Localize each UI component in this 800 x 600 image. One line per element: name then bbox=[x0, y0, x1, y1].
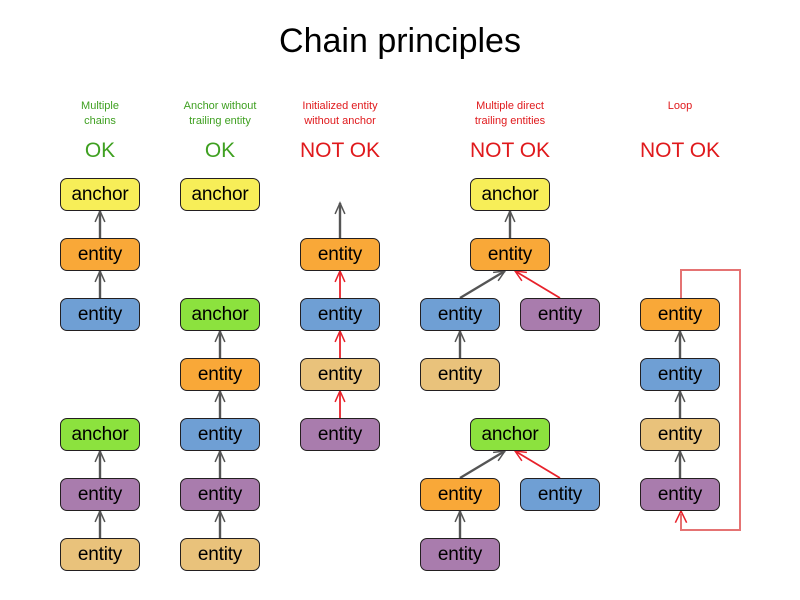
c4-entity-to-anchor-arrowhead bbox=[505, 211, 515, 222]
node-entity-c1-r6[interactable]: entity bbox=[60, 478, 140, 511]
c2-entity-to-entity-2 bbox=[215, 451, 225, 478]
verdict-loop: NOT OK bbox=[600, 139, 760, 163]
node-entity-c5-r4[interactable]: entity bbox=[640, 358, 720, 391]
node-entity-c2-r5[interactable]: entity bbox=[180, 418, 260, 451]
node-entity-c4-r6[interactable]: entity bbox=[520, 478, 600, 511]
c1-entity-to-entity bbox=[95, 271, 105, 298]
c4-blue-to-anchor-arrowhead bbox=[515, 451, 527, 461]
node-entity-c3-r5[interactable]: entity bbox=[300, 418, 380, 451]
c1-entity-to-anchor-2-arrowhead bbox=[95, 451, 105, 462]
node-entity-c1-r2[interactable]: entity bbox=[60, 238, 140, 271]
c2-entity-to-anchor-arrowhead bbox=[215, 331, 225, 342]
c1-entity-to-anchor bbox=[95, 211, 105, 238]
column-header-line2: trailing entities bbox=[430, 114, 590, 129]
c5-entity-to-entity-1 bbox=[675, 331, 685, 358]
c4-blue-to-entity-arrowhead bbox=[493, 271, 505, 281]
c3-entity-to-entity-1-arrowhead bbox=[335, 271, 345, 282]
c4-entity-to-anchor bbox=[505, 211, 515, 238]
c4-orange-to-anchor-arrowhead bbox=[493, 451, 505, 461]
node-anchor-c2-r1[interactable]: anchor bbox=[180, 178, 260, 211]
column-header-initialized-entity-without-anchor: Initialized entity without anchor bbox=[260, 99, 420, 129]
node-entity-c1-r7[interactable]: entity bbox=[60, 538, 140, 571]
c3-entity-to-entity-3-arrowhead bbox=[335, 391, 345, 402]
c2-entity-to-entity-3 bbox=[215, 511, 225, 538]
c1-entity-to-anchor-arrowhead bbox=[95, 211, 105, 222]
node-entity-c5-r3[interactable]: entity bbox=[640, 298, 720, 331]
c4-blue-to-entity bbox=[460, 271, 505, 298]
c4-orange-to-anchor bbox=[460, 451, 505, 478]
node-anchor-c1-r5[interactable]: anchor bbox=[60, 418, 140, 451]
c5-entity-to-entity-3-arrowhead bbox=[675, 451, 685, 462]
c2-entity-to-entity-1 bbox=[215, 391, 225, 418]
verdict-initialized-entity-without-anchor: NOT OK bbox=[260, 139, 420, 163]
column-header-line1: Multiple direct bbox=[430, 99, 590, 114]
c3-entity-to-entity-2-arrowhead bbox=[335, 331, 345, 342]
node-entity-c2-r4[interactable]: entity bbox=[180, 358, 260, 391]
c4-purple-to-orange-arrowhead bbox=[455, 511, 465, 522]
c1-entity-to-entity-2 bbox=[95, 511, 105, 538]
column-header-line1: Loop bbox=[600, 99, 760, 114]
c5-loop-back-edge-arrowhead bbox=[675, 511, 686, 523]
c1-entity-to-anchor-2 bbox=[95, 451, 105, 478]
verdict-multiple-direct-trailing-entities: NOT OK bbox=[430, 139, 590, 163]
node-entity-c5-r6[interactable]: entity bbox=[640, 478, 720, 511]
page-title: Chain principles bbox=[0, 22, 800, 61]
c3-entity-to-entity-3 bbox=[335, 391, 345, 418]
c3-dangling-arrow bbox=[335, 203, 345, 238]
c3-dangling-arrow-arrowhead bbox=[335, 203, 345, 214]
c2-entity-to-entity-3-arrowhead bbox=[215, 511, 225, 522]
node-anchor-c1-r1[interactable]: anchor bbox=[60, 178, 140, 211]
c4-purple-to-entity-arrowhead bbox=[515, 271, 527, 281]
node-entity-c2-r7[interactable]: entity bbox=[180, 538, 260, 571]
c4-purple-to-entity bbox=[515, 271, 560, 298]
c5-entity-to-entity-1-arrowhead bbox=[675, 331, 685, 342]
node-entity-c4-r4[interactable]: entity bbox=[420, 358, 500, 391]
c2-entity-to-anchor bbox=[215, 331, 225, 358]
c5-entity-to-entity-3 bbox=[675, 451, 685, 478]
node-entity-c3-r3[interactable]: entity bbox=[300, 298, 380, 331]
column-header-line1: Initialized entity bbox=[260, 99, 420, 114]
column-header-loop: Loop bbox=[600, 99, 760, 114]
node-entity-c3-r2[interactable]: entity bbox=[300, 238, 380, 271]
node-entity-c4-r6[interactable]: entity bbox=[420, 478, 500, 511]
column-header-line2: without anchor bbox=[260, 114, 420, 129]
node-anchor-c4-r1[interactable]: anchor bbox=[470, 178, 550, 211]
node-entity-c3-r4[interactable]: entity bbox=[300, 358, 380, 391]
c3-entity-to-entity-1 bbox=[335, 271, 345, 298]
column-header-multiple-direct-trailing-entities: Multiple direct trailing entities bbox=[430, 99, 590, 129]
c2-entity-to-entity-1-arrowhead bbox=[215, 391, 225, 402]
c3-entity-to-entity-2 bbox=[335, 331, 345, 358]
c4-tan-to-blue-arrowhead bbox=[455, 331, 465, 342]
c1-entity-to-entity-arrowhead bbox=[95, 271, 105, 282]
c2-entity-to-entity-2-arrowhead bbox=[215, 451, 225, 462]
node-entity-c5-r5[interactable]: entity bbox=[640, 418, 720, 451]
diagram-canvas: Chain principles Multiple chains OK Anch… bbox=[0, 0, 800, 600]
node-anchor-c4-r5[interactable]: anchor bbox=[470, 418, 550, 451]
node-entity-c4-r7[interactable]: entity bbox=[420, 538, 500, 571]
node-entity-c4-r3[interactable]: entity bbox=[520, 298, 600, 331]
c5-entity-to-entity-2-arrowhead bbox=[675, 391, 685, 402]
c4-blue-to-anchor bbox=[515, 451, 560, 478]
node-entity-c2-r6[interactable]: entity bbox=[180, 478, 260, 511]
c4-purple-to-orange bbox=[455, 511, 465, 538]
node-entity-c4-r2[interactable]: entity bbox=[470, 238, 550, 271]
node-entity-c4-r3[interactable]: entity bbox=[420, 298, 500, 331]
c4-tan-to-blue bbox=[455, 331, 465, 358]
c5-entity-to-entity-2 bbox=[675, 391, 685, 418]
node-entity-c1-r3[interactable]: entity bbox=[60, 298, 140, 331]
node-anchor-c2-r3[interactable]: anchor bbox=[180, 298, 260, 331]
c1-entity-to-entity-2-arrowhead bbox=[95, 511, 105, 522]
